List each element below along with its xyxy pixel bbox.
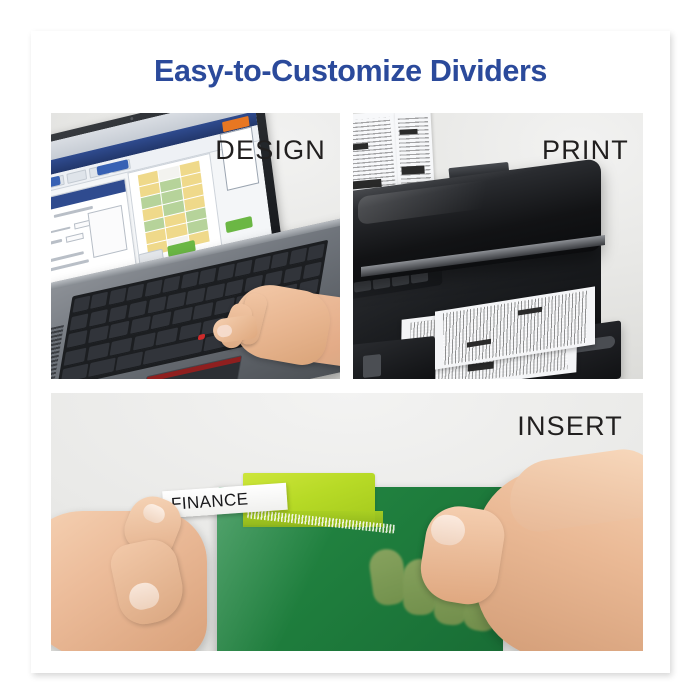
label-grid-preview [138,161,210,256]
panel-label-design: DESIGN [215,137,326,164]
key [162,276,180,294]
page-title: Easy-to-Customize Dividers [31,56,670,87]
product-card: Easy-to-Customize Dividers [31,31,670,673]
panel-design: DESIGN [51,113,340,379]
right-hand [417,445,643,651]
key [108,304,127,323]
dialog-option-2 [51,259,89,272]
key [89,308,108,327]
panel-insert: FINANCE INSERT [51,393,643,651]
key [144,280,162,298]
key [115,352,142,372]
key [108,288,126,306]
key [88,358,115,378]
panel-label-print: PRINT [542,137,629,164]
key [307,244,325,262]
dialog-input-2 [65,232,84,243]
dialog-preview-box [87,205,127,258]
panel-label-insert: INSERT [517,413,623,440]
sheet-dark-block [400,128,417,134]
key [109,321,130,340]
key [87,325,108,344]
toolbar-icon-3 [67,170,87,185]
left-hand [51,489,271,651]
webcam-icon [130,117,133,121]
panel-print: PRINT [353,113,643,379]
key [130,316,151,335]
key [72,296,90,314]
sheet-dark-block [402,165,425,174]
key [147,296,166,315]
hand-on-keyboard [191,263,340,379]
key [126,284,144,302]
key [151,311,172,330]
screen-next-button [225,216,253,234]
key [166,291,185,310]
key [128,300,147,319]
product-image-canvas: Easy-to-Customize Dividers [0,0,700,700]
dialog-field-label-2 [51,239,62,248]
key [90,292,108,310]
key [172,307,193,326]
key [66,330,87,349]
printer-memory-card-slot [363,354,381,378]
key [69,313,88,332]
